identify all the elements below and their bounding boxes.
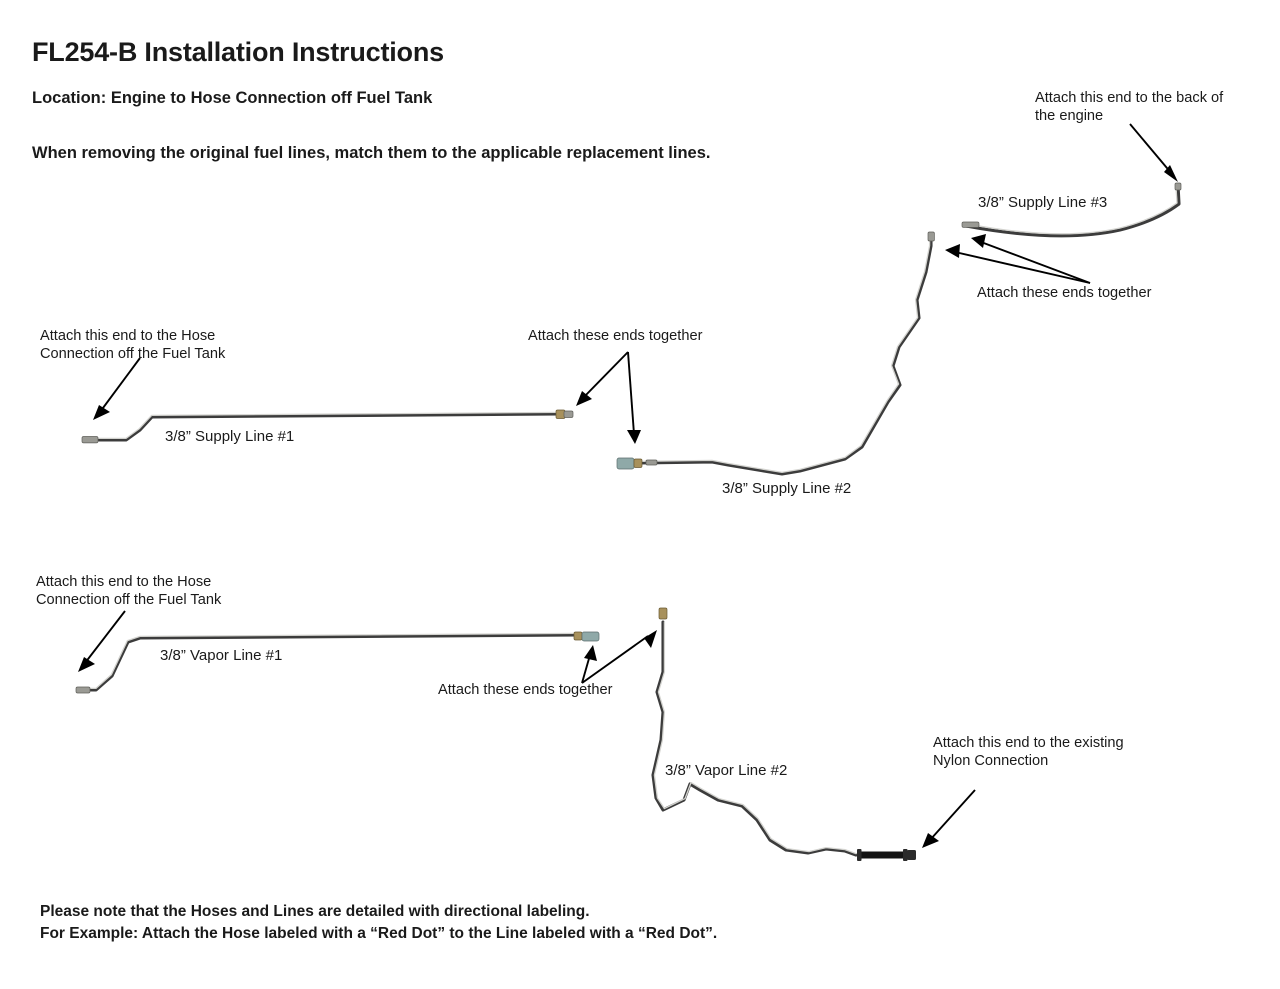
- supply-line-2-collar: [646, 460, 657, 465]
- footer-note-red-dot-example: For Example: Attach the Hose labeled wit…: [40, 925, 717, 944]
- vapor-line-2-top-fitting: [659, 608, 667, 619]
- callout-ends-together-supply1: Attach these ends together: [528, 328, 702, 346]
- callout-engine-end: Attach this end to the back of the engin…: [1035, 90, 1223, 126]
- arrow-ends-together-supply1-a: [576, 352, 628, 406]
- match-instruction: When removing the original fuel lines, m…: [32, 143, 710, 163]
- label-vapor-line-1: 3/8” Vapor Line #1: [160, 647, 282, 665]
- supply-line-3-end-fitting: [962, 222, 979, 227]
- supply-line-2-quick-connect: [617, 458, 634, 469]
- page-title: FL254-B Installation Instructions: [32, 36, 444, 69]
- vapor-line-2-clamp-far: [903, 849, 908, 861]
- callout-tank-end-supply1: Attach this end to the Hose Connection o…: [40, 328, 225, 364]
- label-vapor-line-2: 3/8” Vapor Line #2: [665, 762, 787, 780]
- vapor-line-2-clamp-near: [857, 849, 862, 861]
- label-supply-line-2: 3/8” Supply Line #2: [722, 480, 851, 498]
- vapor-line-2-nylon-fitting: [907, 850, 916, 860]
- supply-line-1-part: [82, 410, 573, 443]
- arrow-ends-together-vapor-b: [582, 630, 657, 683]
- arrow-nylon-end-vapor2: [922, 790, 975, 848]
- supply-line-2-nut: [634, 459, 642, 468]
- footer-note-directional-labeling: Please note that the Hoses and Lines are…: [40, 903, 590, 922]
- arrow-ends-together-vapor-a: [582, 645, 597, 683]
- instruction-sheet: FL254-B Installation Instructions Locati…: [0, 0, 1280, 989]
- arrow-engine-end: [1130, 124, 1178, 182]
- callout-ends-together-vapor: Attach these ends together: [438, 682, 612, 700]
- callout-nylon-end-vapor2: Attach this end to the existing Nylon Co…: [933, 735, 1124, 771]
- arrow-tank-end-vapor1: [78, 611, 125, 672]
- vapor-line-1-end-fitting: [76, 687, 90, 693]
- label-supply-line-3: 3/8” Supply Line #3: [978, 194, 1107, 212]
- arrow-ends-together-supply1-b: [627, 352, 641, 444]
- vapor-line-1-nut: [574, 632, 582, 640]
- vapor-line-2-part: [653, 608, 916, 861]
- label-supply-line-1: 3/8” Supply Line #1: [165, 428, 294, 446]
- arrow-tank-end-supply1: [93, 358, 140, 420]
- location-line: Location: Engine to Hose Connection off …: [32, 88, 432, 108]
- supply-line-1-nut: [556, 410, 565, 419]
- arrow-ends-together-supply3-b: [945, 244, 1090, 283]
- supply-line-1-collar: [564, 411, 573, 418]
- arrow-ends-together-supply3-a: [971, 234, 1090, 283]
- vapor-line-1-quick-connect: [582, 632, 599, 641]
- callout-tank-end-vapor1: Attach this end to the Hose Connection o…: [36, 574, 221, 610]
- supply-line-3-engine-fitting: [1175, 183, 1181, 190]
- supply-line-2-upper-fitting: [928, 232, 934, 241]
- callout-ends-together-supply3: Attach these ends together: [977, 285, 1151, 303]
- supply-line-1-end-fitting: [82, 437, 98, 443]
- supply-line-2-part: [617, 232, 934, 474]
